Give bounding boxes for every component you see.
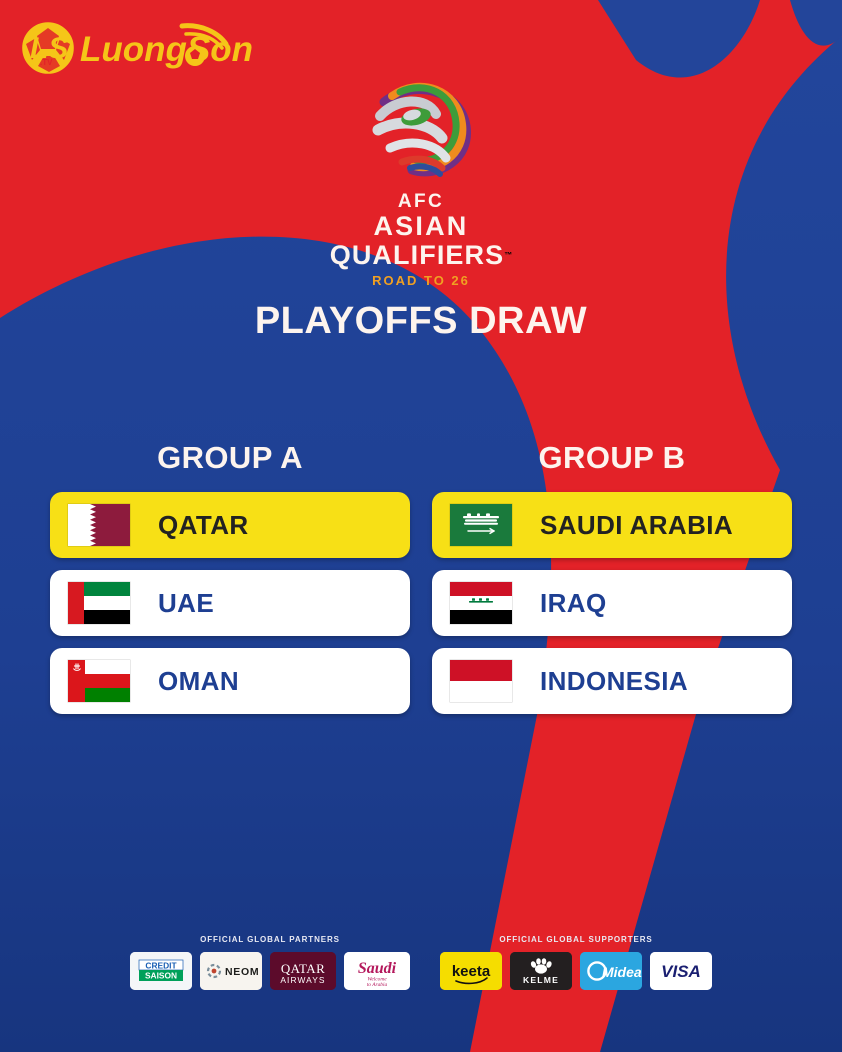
keeta-text: keeta xyxy=(452,963,491,980)
sponsor-neom[interactable]: NEOM xyxy=(200,952,262,990)
playoffs-draw-graphic: LS .TV LuongSon AFC xyxy=(0,0,842,1052)
flag-iraq-icon xyxy=(450,582,512,624)
team-name: OMAN xyxy=(158,666,239,697)
afc-logo-block: AFC ASIAN QUALIFIERS™ ROAD TO 26 xyxy=(0,68,842,287)
team-row[interactable]: UAE xyxy=(50,570,410,636)
sponsor-credit-saison[interactable]: CREDIT SAISON xyxy=(130,952,192,990)
midea-text: Midea xyxy=(602,964,642,980)
saudi-tourism-sub2: to Arabia xyxy=(367,982,388,988)
visa-text: VISA xyxy=(661,962,701,981)
team-row[interactable]: OMAN xyxy=(50,648,410,714)
trademark-icon: ™ xyxy=(504,251,512,260)
official-global-partners: OFFICIAL GLOBAL PARTNERS CREDIT SAISON xyxy=(130,935,410,990)
supporters-label: OFFICIAL GLOBAL SUPPORTERS xyxy=(440,935,712,944)
flag-saudi-arabia-icon xyxy=(450,504,512,546)
partners-label: OFFICIAL GLOBAL PARTNERS xyxy=(130,935,410,944)
afc-logo-line-afc: AFC xyxy=(0,192,842,211)
group-a-heading: GROUP A xyxy=(50,440,410,476)
credit-saison-top: CREDIT xyxy=(145,960,177,970)
sponsor-qatar-airways[interactable]: QATAR AIRWAYS xyxy=(270,952,336,990)
team-name: SAUDI ARABIA xyxy=(540,510,733,541)
flag-oman-icon xyxy=(68,660,130,702)
svg-text:.TV: .TV xyxy=(40,58,53,67)
watermark-text: LuongSon xyxy=(80,30,253,69)
neom-text: NEOM xyxy=(225,966,259,978)
qatar-airways-bottom: AIRWAYS xyxy=(280,975,325,985)
group-b-column: GROUP B xyxy=(432,440,792,726)
group-a-column: GROUP A QATAR xyxy=(50,440,410,726)
team-row[interactable]: SAUDI ARABIA xyxy=(432,492,792,558)
team-name: QATAR xyxy=(158,510,249,541)
sponsor-saudi-tourism[interactable]: Saudi Welcome to Arabia xyxy=(344,952,410,990)
sponsor-keeta[interactable]: keeta xyxy=(440,952,502,990)
sponsor-kelme[interactable]: KELME xyxy=(510,952,572,990)
sponsors-footer: OFFICIAL GLOBAL PARTNERS CREDIT SAISON xyxy=(0,935,842,990)
qatar-airways-top: QATAR xyxy=(281,961,325,976)
official-global-supporters: OFFICIAL GLOBAL SUPPORTERS keeta xyxy=(440,935,712,990)
team-row[interactable]: INDONESIA xyxy=(432,648,792,714)
team-row[interactable]: IRAQ xyxy=(432,570,792,636)
afc-qualifiers-emblem xyxy=(356,68,486,188)
luongson-tv-logo: LS .TV LuongSon xyxy=(14,16,264,80)
kelme-text: KELME xyxy=(523,975,559,985)
team-name: INDONESIA xyxy=(540,666,688,697)
team-name: UAE xyxy=(158,588,214,619)
team-name: IRAQ xyxy=(540,588,607,619)
team-row[interactable]: QATAR xyxy=(50,492,410,558)
sponsor-midea[interactable]: Midea xyxy=(580,952,642,990)
group-b-heading: GROUP B xyxy=(432,440,792,476)
groups-container: GROUP A QATAR xyxy=(0,440,842,726)
credit-saison-bottom: SAISON xyxy=(145,971,177,981)
saudi-tourism-text: Saudi xyxy=(358,960,397,977)
sponsor-visa[interactable]: VISA xyxy=(650,952,712,990)
flag-indonesia-icon xyxy=(450,660,512,702)
afc-logo-line-road: ROAD TO 26 xyxy=(0,274,842,287)
afc-logo-line-qualifiers: QUALIFIERS xyxy=(330,241,505,270)
page-title: PLAYOFFS DRAW xyxy=(0,300,842,343)
afc-logo-line-asian: ASIAN xyxy=(0,212,842,241)
flag-uae-icon xyxy=(68,582,130,624)
flag-qatar-icon xyxy=(68,504,130,546)
